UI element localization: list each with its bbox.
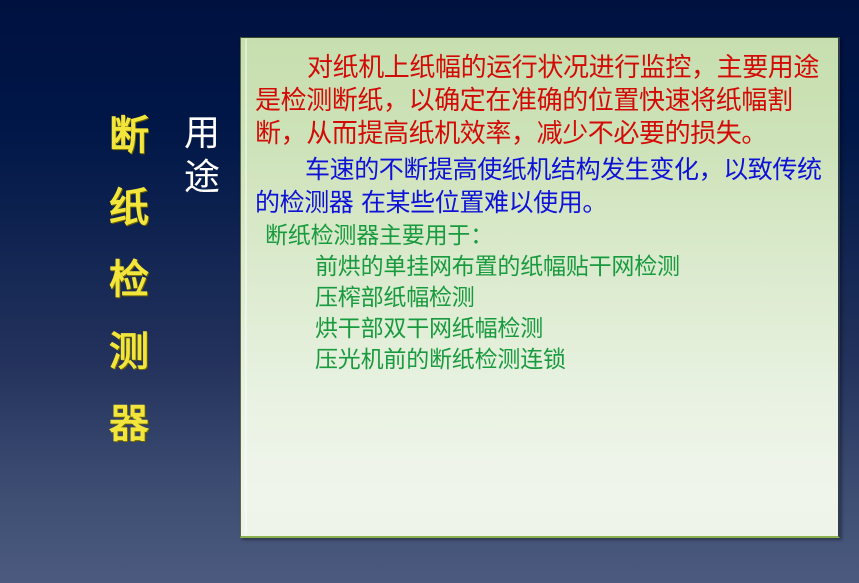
purpose-paragraph: 对纸机上纸幅的运行状况进行监控，主要用途是检测断纸，以确定在准确的位置快速将纸幅…: [255, 52, 828, 151]
background-paragraph: 车速的不断提高使纸机结构发生变化，以致传统的检测器 在某些位置难以使用。: [255, 153, 828, 219]
subject-label-char: 用: [176, 112, 228, 156]
vertical-title-char: 纸: [96, 172, 162, 244]
applications-heading: 断纸检测器主要用于：: [255, 221, 828, 251]
subject-label-char: 途: [176, 156, 228, 200]
vertical-title-char: 测: [96, 316, 162, 388]
slide-vertical-title: 断 纸 检 测 器: [96, 100, 162, 460]
list-item: 压榨部纸幅检测: [315, 283, 828, 314]
presentation-slide: 断 纸 检 测 器 用 途 对纸机上纸幅的运行状况进行监控，主要用途是检测断纸，…: [0, 0, 859, 583]
list-item: 压光机前的断纸检测连锁: [315, 345, 828, 376]
list-item: 前烘的单挂网布置的纸幅贴干网检测: [315, 252, 828, 283]
list-item: 烘干部双干网纸幅检测: [315, 314, 828, 345]
vertical-title-char: 器: [96, 388, 162, 460]
slide-content-panel: 对纸机上纸幅的运行状况进行监控，主要用途是检测断纸，以确定在准确的位置快速将纸幅…: [240, 37, 840, 538]
vertical-title-char: 断: [96, 100, 162, 172]
applications-list: 前烘的单挂网布置的纸幅贴干网检测 压榨部纸幅检测 烘干部双干网纸幅检测 压光机前…: [255, 252, 828, 376]
slide-subject-label: 用 途: [176, 112, 228, 200]
vertical-title-char: 检: [96, 244, 162, 316]
